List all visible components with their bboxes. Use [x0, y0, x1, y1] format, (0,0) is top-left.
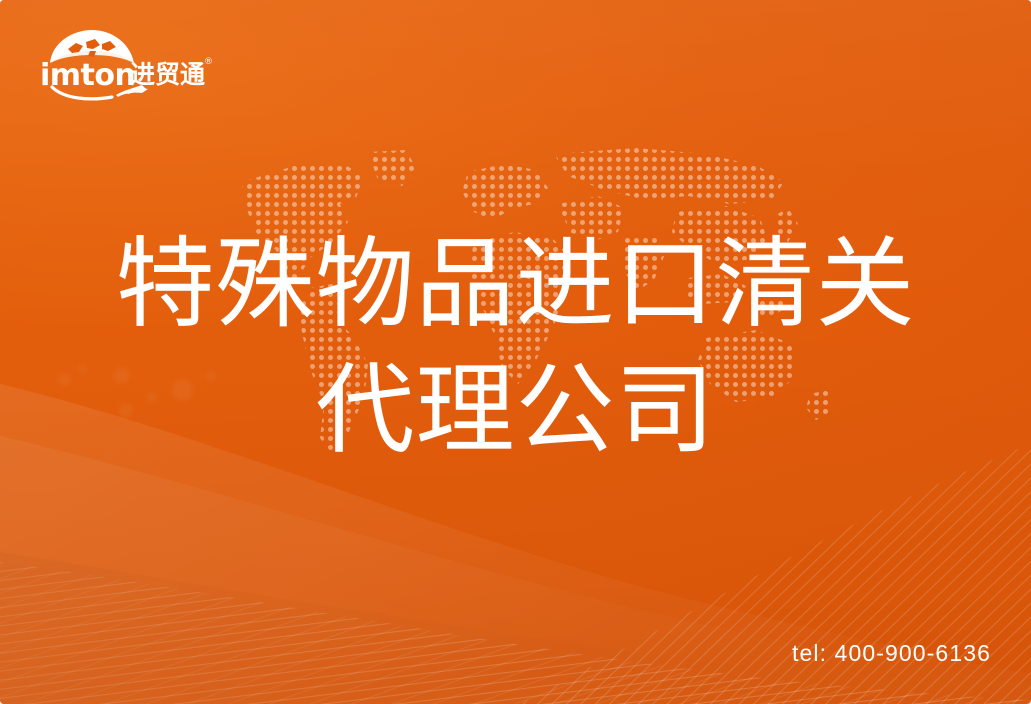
logo-chinese-name: 进贸通	[130, 60, 205, 89]
promo-banner: imton 进贸通 ® 特殊物品进口清关 代理公司 tel: 400-900-6…	[0, 0, 1031, 704]
contact-phone[interactable]: tel: 400-900-6136	[792, 640, 991, 667]
page-title-line-1: 特殊物品进口清关	[0, 222, 1031, 348]
page-title: 特殊物品进口清关 代理公司	[0, 222, 1031, 474]
page-title-line-2: 代理公司	[0, 348, 1031, 474]
imton-logo[interactable]: imton 进贸通 ®	[38, 27, 214, 101]
trademark-icon: ®	[204, 57, 213, 67]
